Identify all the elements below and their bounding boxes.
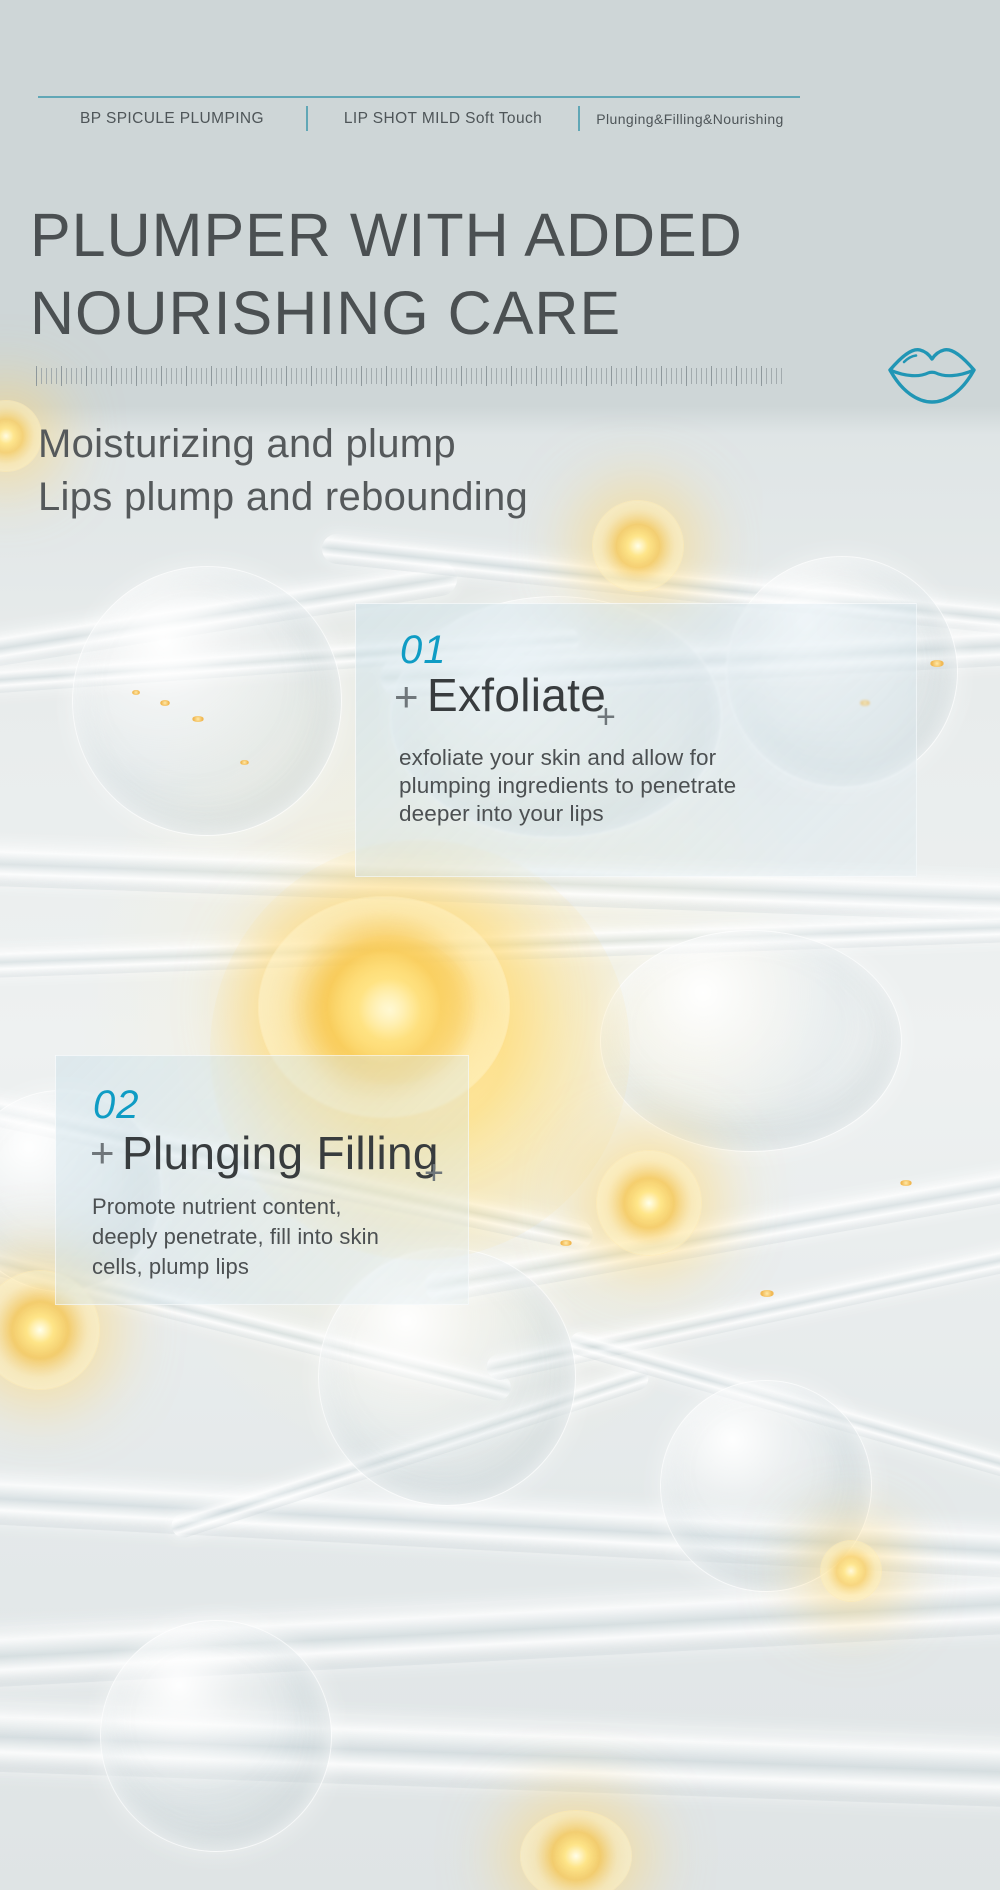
gold-fleck bbox=[900, 1180, 912, 1186]
hero-subtitle: Moisturizing and plump Lips plump and re… bbox=[38, 418, 798, 524]
step-body-line2-02: deeply penetrate, fill into skin bbox=[92, 1222, 472, 1252]
step-body-line2-01: plumping ingredients to penetrate bbox=[399, 772, 919, 800]
plus-icon-right-02: + bbox=[424, 1156, 444, 1190]
gold-fleck bbox=[192, 716, 204, 722]
hero-subtitle-line1: Moisturizing and plump bbox=[38, 418, 798, 471]
step-number-01: 01 bbox=[400, 630, 447, 670]
gold-orb bbox=[596, 1150, 702, 1256]
step-body-line1-02: Promote nutrient content, bbox=[92, 1192, 472, 1222]
plus-icon-left-02: + bbox=[90, 1132, 115, 1174]
header-divider-line bbox=[38, 96, 800, 98]
step-headline-01: Exfoliate bbox=[427, 672, 606, 718]
glass-orb bbox=[600, 930, 902, 1152]
plus-icon-left-01: + bbox=[394, 676, 419, 718]
glass-orb bbox=[100, 1620, 332, 1852]
header-separator bbox=[578, 106, 580, 131]
plus-icon-right-01: + bbox=[596, 700, 616, 734]
page-title: PLUMPER WITH ADDED NOURISHING CARE bbox=[30, 196, 790, 352]
gold-fleck bbox=[930, 660, 944, 667]
hero-subtitle-line2: Lips plump and rebounding bbox=[38, 471, 798, 524]
header-item-benefits[interactable]: Plunging&Filling&Nourishing bbox=[580, 111, 800, 127]
step-body-line1-01: exfoliate your skin and allow for bbox=[399, 744, 919, 772]
header-item-brand[interactable]: BP SPICULE PLUMPING bbox=[38, 110, 306, 128]
gold-fleck bbox=[132, 690, 140, 695]
header-item-product[interactable]: LIP SHOT MILD Soft Touch bbox=[308, 110, 578, 128]
top-header-bar: BP SPICULE PLUMPING LIP SHOT MILD Soft T… bbox=[38, 96, 800, 131]
gold-orb bbox=[820, 1540, 882, 1602]
product-banner-page: BP SPICULE PLUMPING LIP SHOT MILD Soft T… bbox=[0, 0, 1000, 1890]
page-title-line2: NOURISHING CARE bbox=[30, 274, 790, 352]
step-body-02: Promote nutrient content, deeply penetra… bbox=[92, 1192, 472, 1282]
glass-orb bbox=[72, 566, 342, 836]
header-item-list: BP SPICULE PLUMPING LIP SHOT MILD Soft T… bbox=[38, 106, 800, 131]
gold-fleck bbox=[560, 1240, 572, 1246]
step-body-01: exfoliate your skin and allow for plumpi… bbox=[399, 744, 919, 828]
gold-fleck bbox=[160, 700, 170, 706]
page-title-line1: PLUMPER WITH ADDED bbox=[30, 196, 790, 274]
header-separator bbox=[306, 106, 308, 131]
gold-fleck bbox=[760, 1290, 774, 1297]
ruler-divider-major-ticks bbox=[36, 366, 784, 386]
step-body-line3-01: deeper into your lips bbox=[399, 800, 919, 828]
gold-fleck bbox=[240, 760, 249, 765]
step-body-line3-02: cells, plump lips bbox=[92, 1252, 472, 1282]
step-number-02: 02 bbox=[93, 1085, 140, 1125]
step-headline-02: Plunging Filling bbox=[122, 1130, 439, 1176]
lips-icon bbox=[884, 336, 980, 408]
